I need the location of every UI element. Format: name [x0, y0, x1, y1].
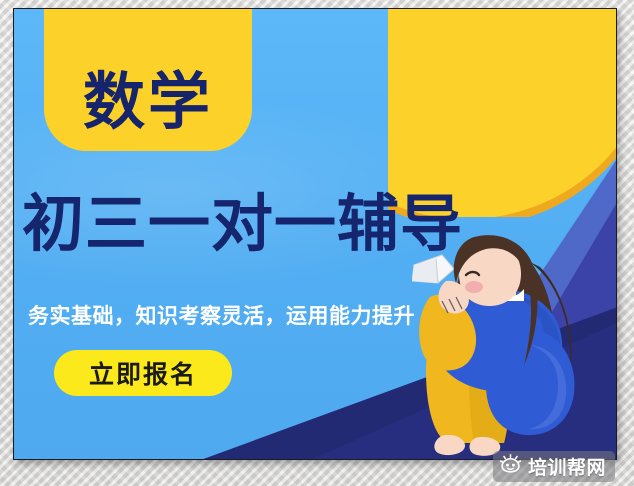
- poster-canvas: 数学: [14, 9, 616, 459]
- subject-badge: 数学: [44, 9, 252, 151]
- promotional-poster: 数学: [13, 8, 617, 460]
- headline: 初三一对一辅导: [22, 191, 616, 258]
- enroll-now-button[interactable]: 立即报名: [54, 350, 232, 396]
- subtitle: 务实基础，知识考察灵活，运用能力提升: [28, 300, 415, 330]
- watermark: 培训帮网: [493, 451, 615, 482]
- cheek-blush: [465, 281, 483, 293]
- sun-face-icon: [500, 454, 521, 480]
- subject-badge-label: 数学: [83, 71, 213, 133]
- book-page-left: [412, 259, 438, 283]
- illustration-woman-reading: [412, 235, 616, 459]
- enroll-now-button-label: 立即报名: [89, 355, 197, 391]
- watermark-text: 培训帮网: [528, 453, 606, 480]
